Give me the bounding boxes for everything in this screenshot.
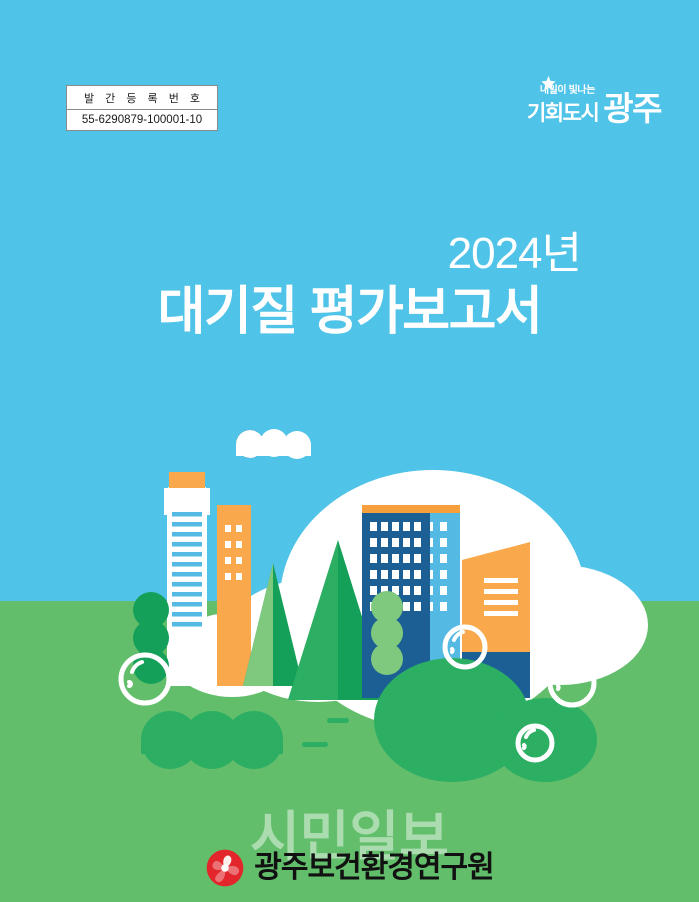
- report-cover: 발 간 등 록 번 호 55-6290879-100001-10 내일이 빛나는…: [0, 0, 699, 902]
- city-logo-subtitle: 기회도시: [527, 103, 598, 124]
- small-cloud: [236, 429, 311, 459]
- gwangju-city-logo: 내일이 빛나는 기회도시 광주: [501, 80, 661, 142]
- white-striped-tower: [164, 472, 210, 686]
- report-year: 2024년: [448, 232, 581, 276]
- report-title: 대기질 평가보고서: [0, 284, 699, 341]
- city-logo-main: 기회도시 광주: [527, 94, 661, 124]
- bush-row: [141, 711, 283, 769]
- city-logo-name: 광주: [603, 94, 661, 124]
- stacked-circle-tree-left: [133, 592, 169, 684]
- registration-number: 55-6290879-100001-10: [67, 110, 217, 130]
- publisher-name: 광주보건환경연구원: [254, 853, 493, 883]
- bush-dome-small: [493, 698, 597, 782]
- flower-emblem-icon: [205, 848, 245, 888]
- publisher-logo: 광주보건환경연구원: [0, 848, 699, 888]
- stacked-circle-tree-right: [371, 591, 403, 675]
- orange-window-building: [217, 505, 251, 686]
- registration-number-box: 발 간 등 록 번 호 55-6290879-100001-10: [66, 85, 218, 131]
- registration-label: 발 간 등 록 번 호: [67, 86, 217, 110]
